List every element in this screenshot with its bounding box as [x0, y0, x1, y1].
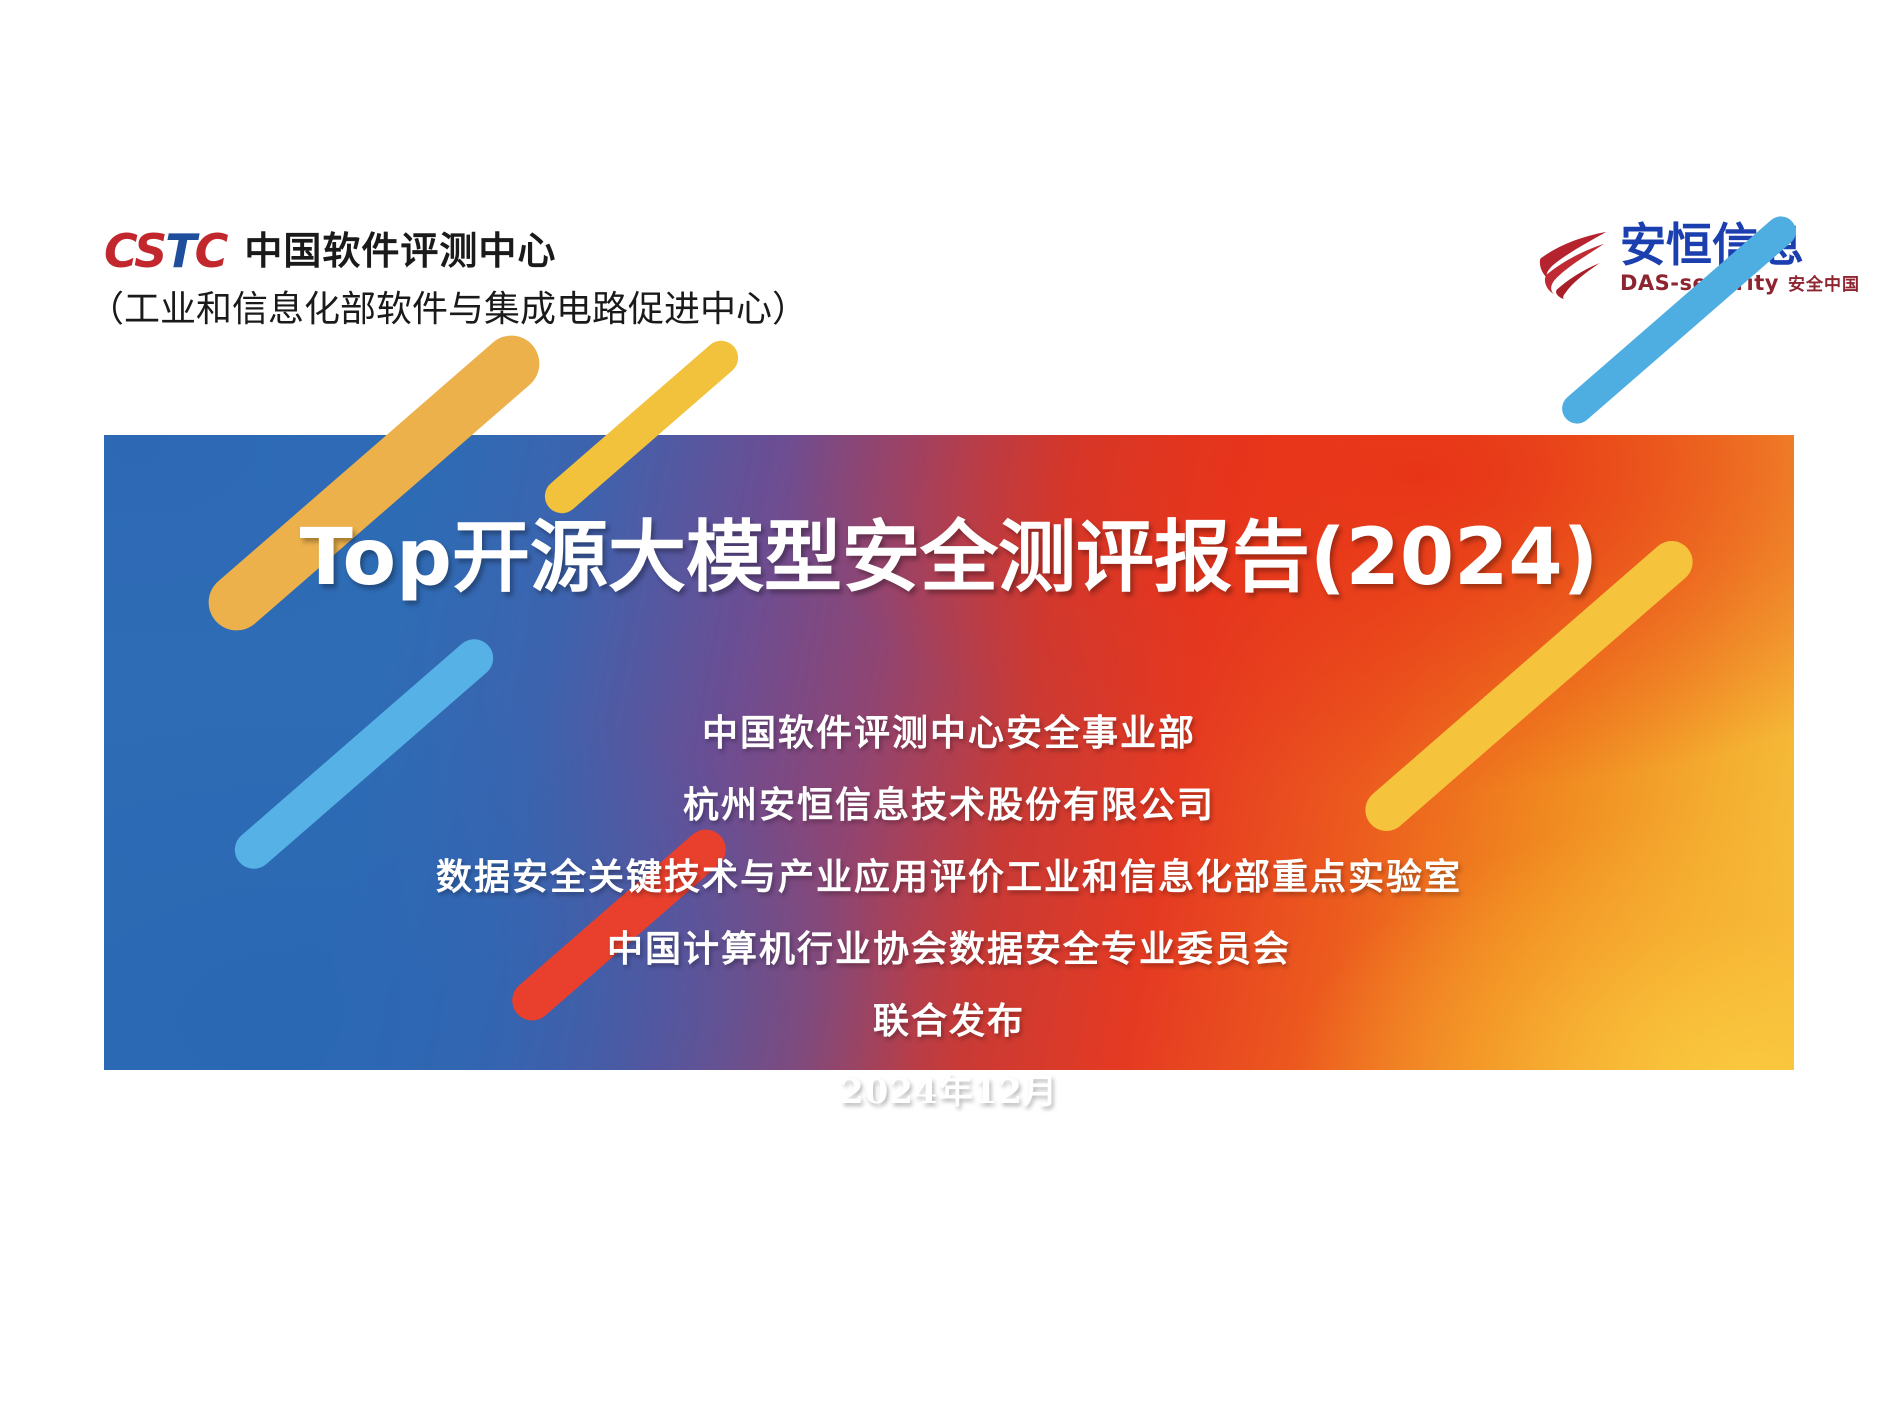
cstc-mark-t: T	[165, 224, 194, 278]
report-title: Top开源大模型安全测评报告(2024)	[104, 495, 1794, 607]
publisher-block: 中国软件评测中心安全事业部杭州安恒信息技术股份有限公司数据安全关键技术与产业应用…	[104, 715, 1794, 1109]
publisher-line: 杭州安恒信息技术股份有限公司	[104, 787, 1794, 823]
cstc-name-cn: 中国软件评测中心	[244, 232, 556, 270]
page-header: CSTC 中国软件评测中心 （工业和信息化部软件与集成电路促进中心） 安恒信息 …	[0, 0, 1898, 340]
das-swoosh-icon	[1536, 226, 1610, 300]
cstc-wordmark-icon: CSTC	[104, 228, 226, 274]
publisher-line: 中国软件评测中心安全事业部	[104, 715, 1794, 751]
cstc-logo: CSTC 中国软件评测中心	[104, 228, 556, 274]
publisher-line: 中国计算机行业协会数据安全专业委员会	[104, 931, 1794, 967]
report-cover-banner: Top开源大模型安全测评报告(2024) 中国软件评测中心安全事业部杭州安恒信息…	[104, 435, 1794, 1070]
cstc-subtitle: （工业和信息化部软件与集成电路促进中心）	[88, 280, 808, 332]
cstc-mark-cs: CS	[104, 224, 165, 278]
publisher-line: 数据安全关键技术与产业应用评价工业和信息化部重点实验室	[104, 859, 1794, 895]
cstc-mark-c: C	[195, 224, 227, 278]
publish-date: 2024年12月	[104, 1075, 1794, 1109]
das-tagline-cn: 安全中国	[1788, 277, 1860, 294]
publisher-line: 联合发布	[104, 1003, 1794, 1039]
